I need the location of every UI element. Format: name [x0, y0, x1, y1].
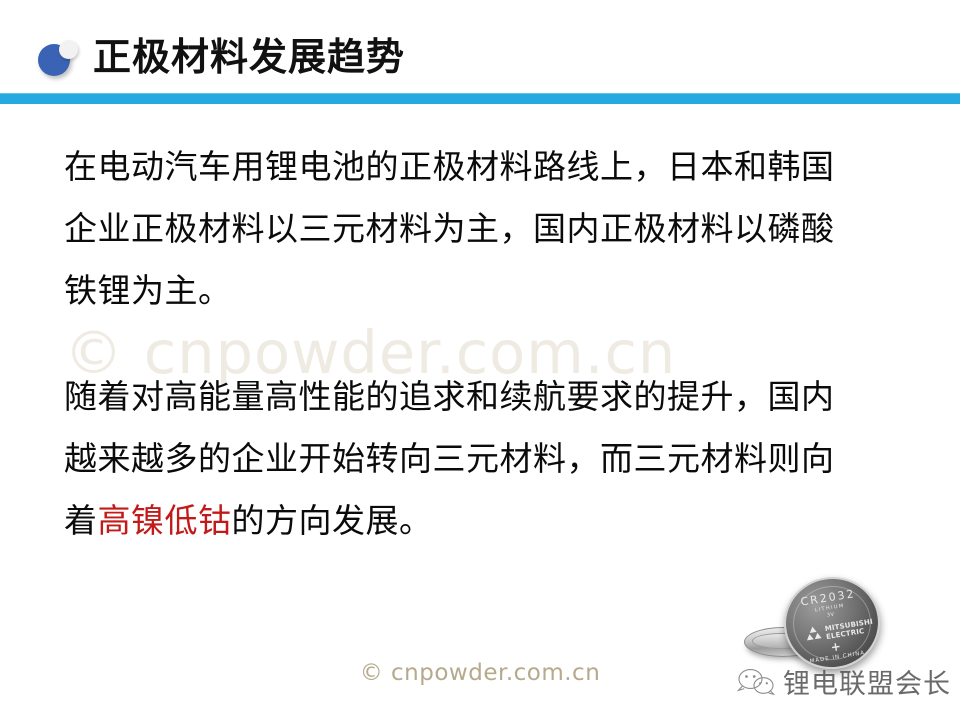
wechat-icon — [736, 667, 776, 697]
wechat-account-name: 锂电联盟会长 — [783, 662, 951, 701]
wechat-account-brand: 锂电联盟会长 — [736, 662, 951, 701]
body-paragraph-1: 在电动汽车用锂电池的正极材料路线上，日本和韩国企业正极材料以三元材料为主，国内正… — [64, 136, 864, 322]
highlighted-term: 高镍低钴 — [98, 501, 232, 540]
slide-canvas: 正极材料发展趋势 © cnpowder.com.cn 在电动汽车用锂电池的正极材… — [0, 0, 960, 720]
body-paragraph-2: 随着对高能量高性能的追求和续航要求的提升，国内越来越多的企业开始转向三元材料，而… — [64, 366, 864, 552]
slide-header: 正极材料发展趋势 — [0, 0, 960, 93]
bullet-small-circle — [59, 40, 78, 59]
slide-body: 在电动汽车用锂电池的正极材料路线上，日本和韩国企业正极材料以三元材料为主，国内正… — [64, 136, 864, 552]
paragraph-2-text-tail: 的方向发展。 — [232, 501, 433, 540]
page-title: 正极材料发展趋势 — [93, 32, 405, 82]
header-divider-rule — [0, 93, 960, 104]
coin-cell-battery-image: CR2032 LITHIUM 3V MITSUBISHI ELECTRIC + … — [742, 575, 942, 675]
battery-front-cell: CR2032 LITHIUM 3V MITSUBISHI ELECTRIC + … — [777, 570, 886, 676]
two-circles-bullet-icon — [38, 40, 80, 78]
